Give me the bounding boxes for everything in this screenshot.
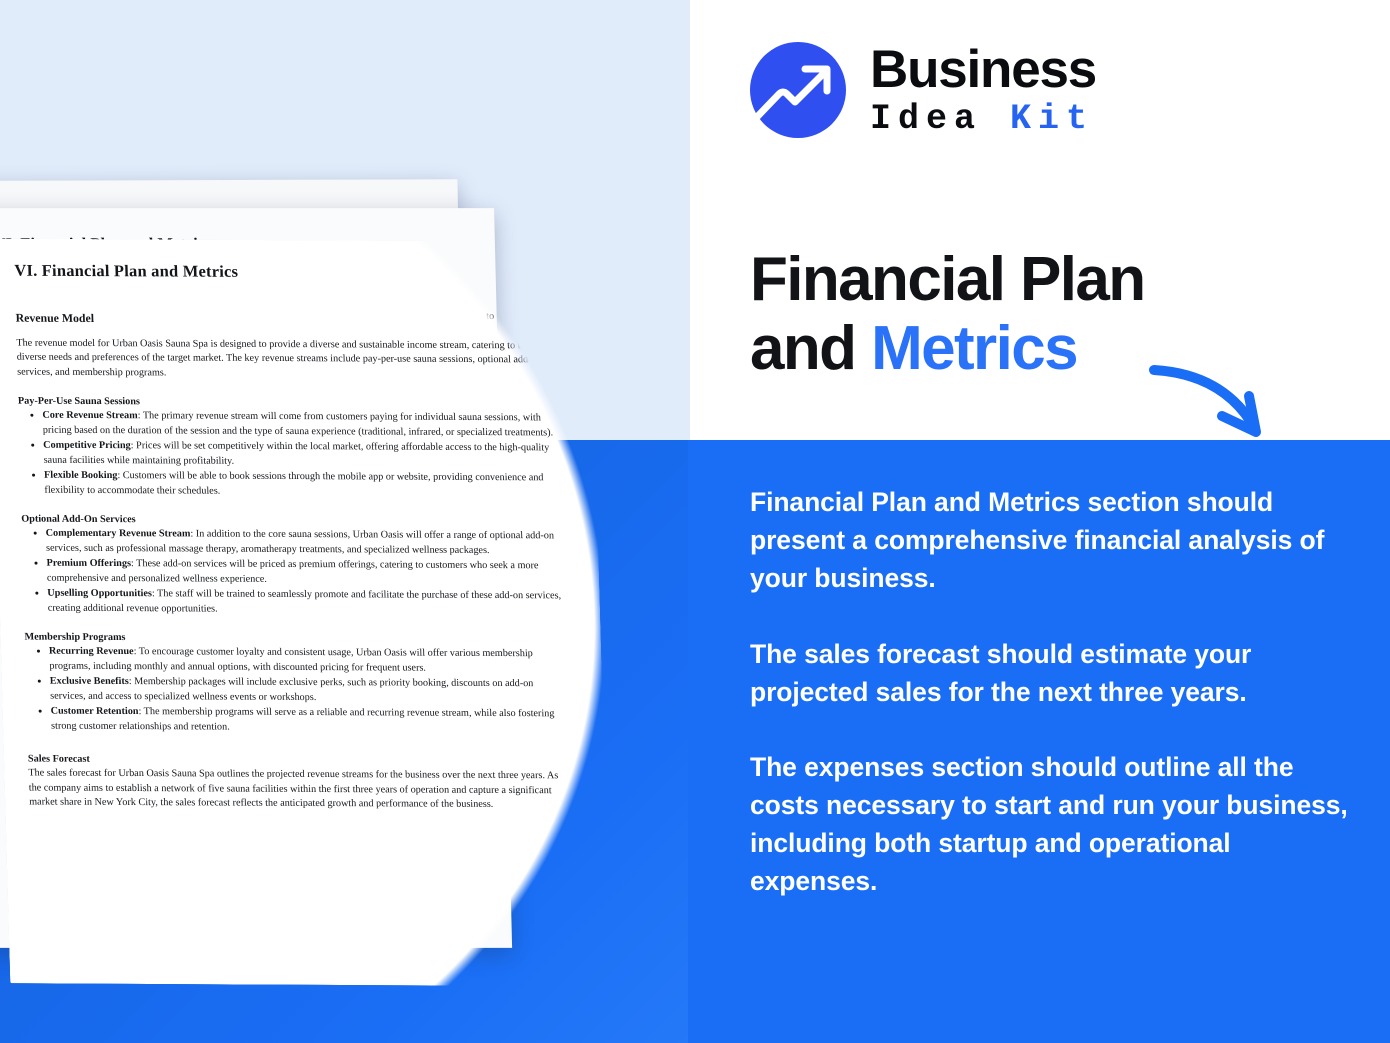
list-item: Premium Offerings: These add-on services… <box>46 557 567 589</box>
brand-name-idea-kit: Idea Kit <box>870 102 1096 137</box>
list-item: Core Revenue Stream: The primary revenue… <box>42 409 563 441</box>
list-item: Competitive Pricing: Prices will be set … <box>43 439 564 471</box>
doc-title: VI. Financial Plan and Metrics <box>14 261 559 284</box>
brand-name-business: Business <box>870 43 1096 96</box>
document-content: VI. Financial Plan and Metrics Revenue M… <box>0 239 613 987</box>
doc-sales-forecast-heading: Sales Forecast <box>28 754 573 768</box>
page-title-accent: Metrics <box>871 314 1077 383</box>
list-item: Recurring Revenue: To encourage customer… <box>49 645 570 677</box>
doc-membership-heading: Membership Programs <box>24 632 569 646</box>
page-title-line-1: Financial Plan <box>750 245 1145 314</box>
list-item: Customer Retention: The membership progr… <box>50 705 571 737</box>
copy-paragraph-3: The expenses section should outline all … <box>750 749 1350 901</box>
list-item: Complementary Revenue Stream: In additio… <box>46 527 567 559</box>
doc-sales-forecast-paragraph: The sales forecast for Urban Oasis Sauna… <box>28 767 574 813</box>
doc-optional-addon-heading: Optional Add-On Services <box>21 514 566 528</box>
curved-arrow-down-right-icon <box>1148 360 1288 455</box>
list-item: Exclusive Benefits: Membership packages … <box>50 675 571 707</box>
brand-idea: Idea <box>870 99 982 139</box>
body-copy: Financial Plan and Metrics section shoul… <box>750 484 1350 901</box>
doc-revenue-model-paragraph: The revenue model for Urban Oasis Sauna … <box>16 337 562 383</box>
doc-revenue-model-heading: Revenue Model <box>15 311 560 329</box>
brand-lockup: Business Idea Kit <box>748 40 1096 140</box>
page-title-line-2-prefix: and <box>750 314 871 383</box>
brand-kit: Kit <box>1010 99 1094 139</box>
list-item: Upselling Opportunities: The staff will … <box>47 587 568 619</box>
trending-up-circle-icon <box>748 40 848 140</box>
copy-paragraph-1: Financial Plan and Metrics section shoul… <box>750 484 1350 598</box>
copy-paragraph-2: The sales forecast should estimate your … <box>750 636 1350 712</box>
doc-pay-per-use-list: Core Revenue Stream: The primary revenue… <box>18 409 565 501</box>
list-item: Flexible Booking: Customers will be able… <box>44 469 565 501</box>
poster-canvas: VI. Financial Plan and Metrics Revenue M… <box>0 0 1390 1043</box>
doc-pay-per-use-heading: Pay-Per-Use Sauna Sessions <box>18 396 563 410</box>
doc-membership-list: Recurring Revenue: To encourage customer… <box>25 645 572 737</box>
document-stack: VI. Financial Plan and Metrics Revenue M… <box>0 180 720 980</box>
doc-optional-addon-list: Complementary Revenue Stream: In additio… <box>22 527 569 619</box>
brand-wordmark: Business Idea Kit <box>870 43 1096 137</box>
